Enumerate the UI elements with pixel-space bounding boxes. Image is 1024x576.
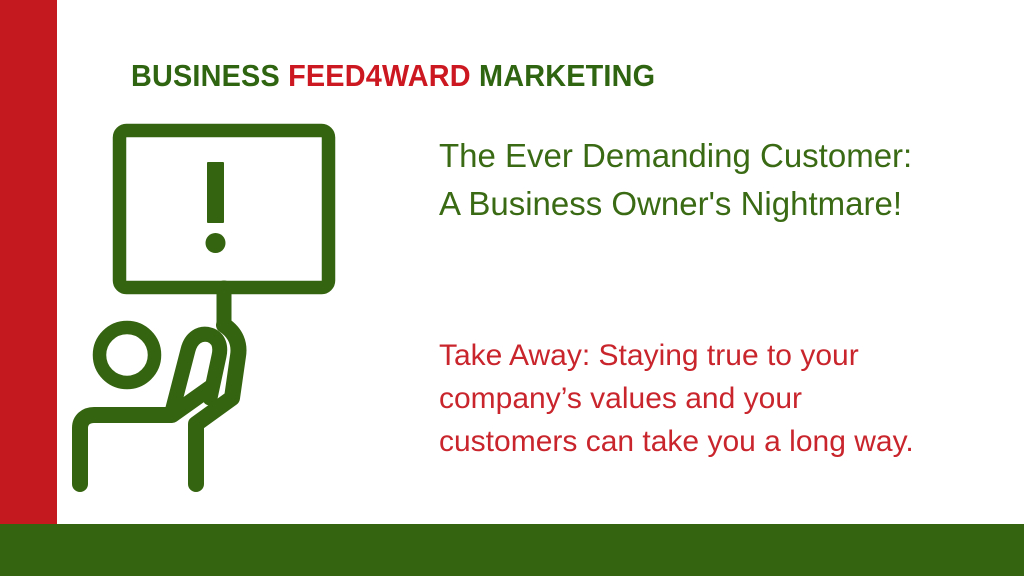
headline-line-2: A Business Owner's Nightmare! [439,180,1009,228]
takeaway-line-3: customers can take you a long way. [439,420,1014,463]
brand-word-marketing: MARKETING [479,58,655,93]
takeaway-line-1: Take Away: Staying true to your [439,334,1014,377]
brand-space-1 [280,58,288,93]
brand-word-feed4ward: FEED4WARD [288,58,471,93]
brand-space-2 [471,58,479,93]
protest-sign-person-illustration [60,112,350,502]
headline-line-1: The Ever Demanding Customer: [439,132,1009,180]
left-accent-bar [0,0,57,524]
bottom-accent-bar [0,524,1024,576]
brand-title: BUSINESS FEED4WARD MARKETING [131,58,655,94]
headline: The Ever Demanding Customer: A Business … [439,132,1009,228]
exclamation-mark-icon [206,162,226,253]
takeaway-line-2: company’s values and your [439,377,1014,420]
brand-word-business: BUSINESS [131,58,280,93]
head-icon [100,328,155,383]
slide-canvas: BUSINESS FEED4WARD MARKETING [0,0,1024,576]
takeaway-text: Take Away: Staying true to your company’… [439,334,1014,463]
